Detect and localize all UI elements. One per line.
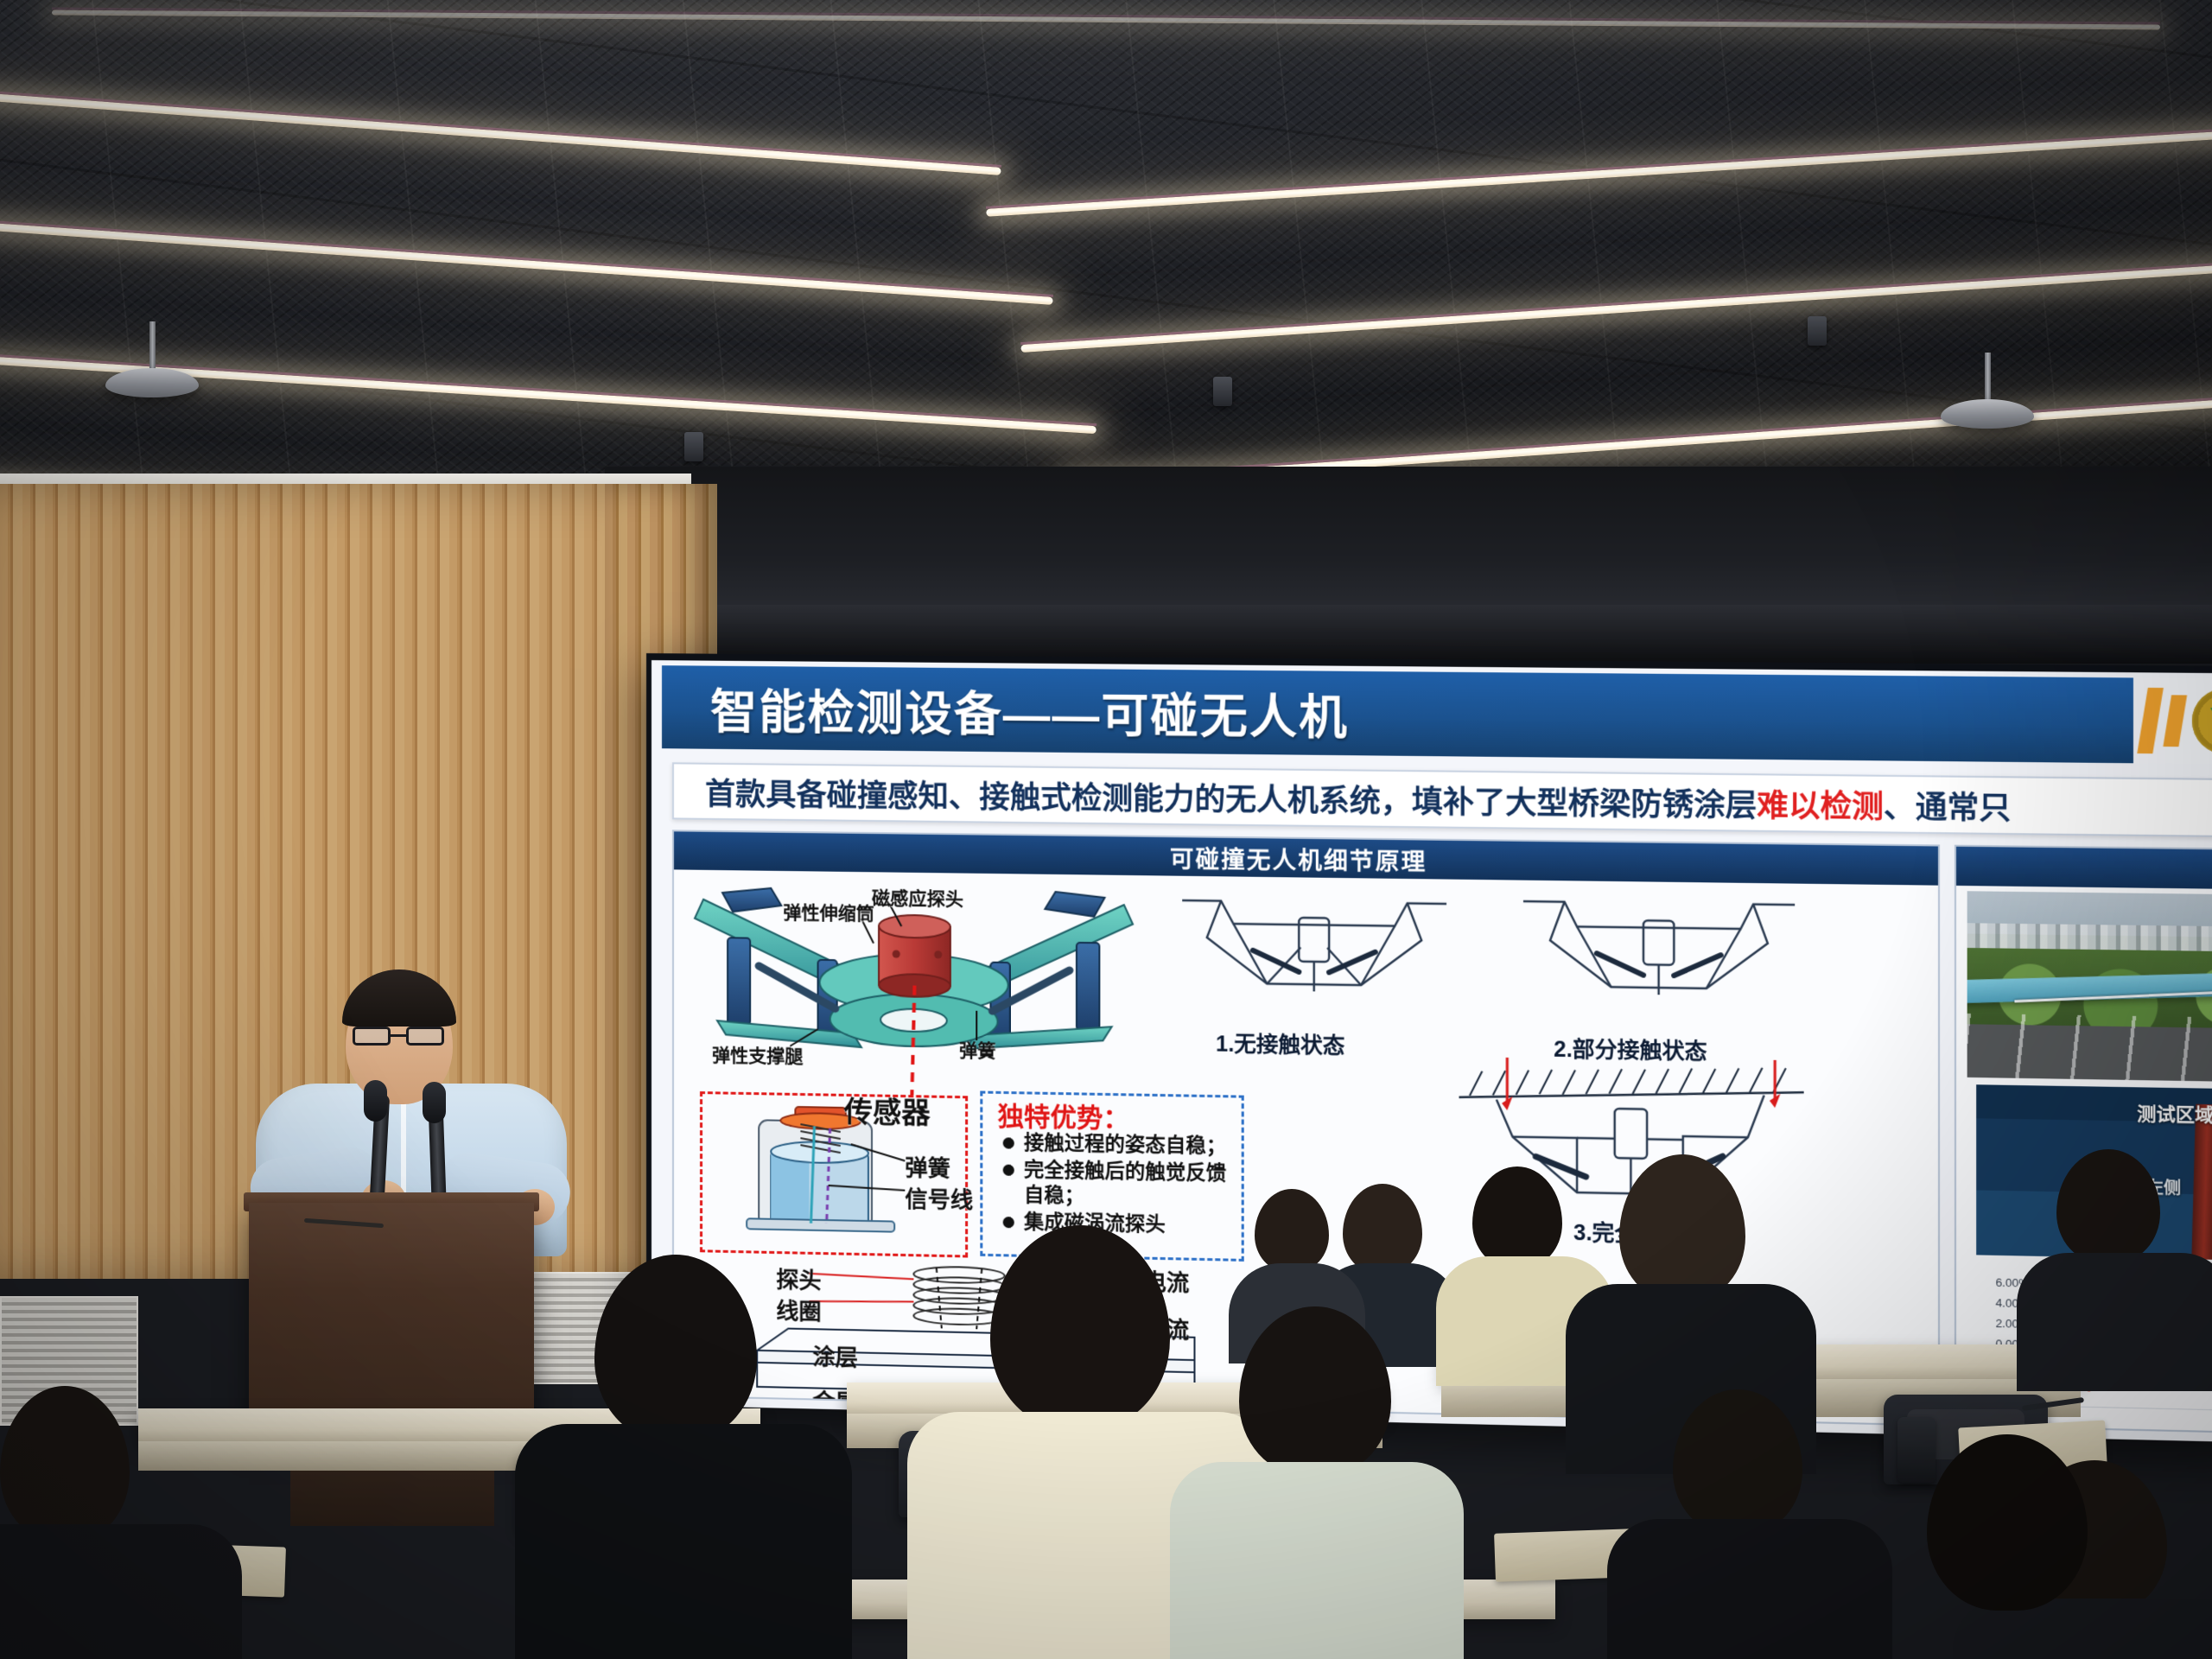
upper-wall [605, 467, 2212, 622]
audience-member [553, 1255, 812, 1659]
audience-head [990, 1225, 1170, 1429]
audience-member [1866, 1434, 2143, 1659]
audience-head [1239, 1306, 1391, 1476]
audience-member [0, 1386, 259, 1659]
audience-member [1201, 1306, 1426, 1659]
advantages-list: 接触过程的姿态自稳； 完全接触后的触觉反馈自稳； 集成磁涡流探头 [1001, 1129, 1243, 1240]
audience-body [0, 1524, 242, 1659]
audience-head [1619, 1154, 1745, 1301]
drone-label-elastic-cylinder: 弹性伸缩筒 [783, 899, 874, 926]
podium [249, 1203, 534, 1434]
drone-label-spring: 弹簧 [959, 1037, 996, 1064]
slide-subtitle: 首款具备碰撞感知、接触式检测能力的无人机系统，填补了大型桥梁防锈涂层难以检测、通… [672, 762, 2212, 837]
state-2-partial-contact-diagram [1505, 889, 1811, 1034]
audience-head [1472, 1166, 1562, 1268]
audience-member [2031, 1149, 2212, 1374]
audience-body [515, 1424, 852, 1659]
presenter-glasses [353, 1025, 449, 1047]
state-1-no-contact-diagram [1168, 885, 1461, 1029]
subtitle-part-3: 、通常只 [1884, 781, 2011, 828]
ceiling-sensor [1808, 316, 1827, 346]
audience-head [1927, 1434, 2088, 1611]
microphone-head-2 [423, 1082, 446, 1123]
slide-brand [2133, 677, 2212, 764]
ceiling-sensor [684, 432, 703, 461]
audience-head [0, 1386, 130, 1541]
audience-body [1170, 1462, 1464, 1659]
bridge-aerial-photo: 60m [1967, 891, 2212, 1089]
sensor-box-title: 传感器 [844, 1089, 931, 1132]
slide-title: 智能检测设备——可碰无人机 [662, 673, 1349, 748]
presenter-hair [342, 969, 456, 1027]
ceiling [0, 0, 2212, 536]
brand-stripe-2 [2163, 695, 2187, 747]
lecture-hall-scene: 智能检测设备——可碰无人机 首款具备碰撞感知、接触式检测能力的无人机系统，填补了… [0, 0, 2212, 1659]
subtitle-part-2: 难以检测 [1757, 780, 1884, 827]
sensor-label-spring: 弹簧 [905, 1150, 950, 1183]
audience-head [2056, 1149, 2160, 1263]
university-seal-logo [2192, 688, 2212, 754]
state-label-1: 1.无接触状态 [1216, 1027, 1345, 1060]
drone-label-magnetic-probe: 磁感应探头 [872, 884, 963, 912]
audience-head [1673, 1389, 1802, 1535]
audience-head [1255, 1189, 1329, 1272]
audience-member [1624, 1389, 1866, 1659]
test-zone-label-1: 测试区域1 [2137, 1100, 2212, 1128]
probe-label-coating: 涂层 [813, 1339, 858, 1372]
subtitle-part-1: 首款具备碰撞感知、接触式检测能力的无人机系统，填补了大型桥梁防锈涂层 [705, 769, 1757, 825]
sensor-label-signal-wire: 信号线 [905, 1182, 973, 1216]
ceiling-sensor [1213, 377, 1232, 406]
drone-label-elastic-leg: 弹性支撑腿 [712, 1041, 803, 1069]
ceiling-shading [0, 0, 2212, 536]
advantage-item: 完全接触后的触觉反馈自稳； [1001, 1156, 1243, 1211]
photo-road [1967, 1014, 2212, 1089]
audience-body [1607, 1519, 1892, 1659]
audience-head [594, 1255, 757, 1441]
audience-body [2017, 1253, 2212, 1391]
slide-title-bar: 智能检测设备——可碰无人机 [662, 665, 2139, 763]
advantage-item: 接触过程的姿态自稳； [1001, 1129, 1243, 1159]
microphone-head-1 [364, 1080, 387, 1122]
brand-stripe-1 [2137, 688, 2163, 753]
